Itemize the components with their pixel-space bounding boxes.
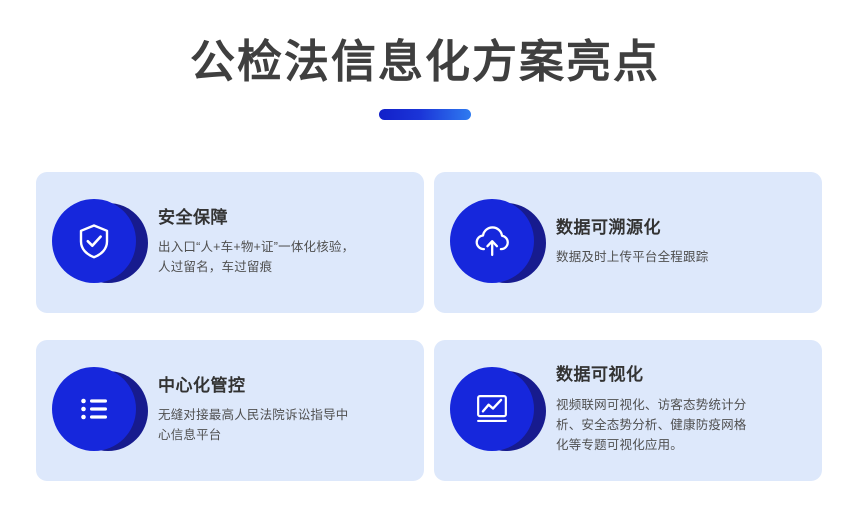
- feature-card-traceability[interactable]: 数据可溯源化 数据及时上传平台全程跟踪: [434, 172, 822, 313]
- card-text-block: 数据可溯源化 数据及时上传平台全程跟踪: [556, 218, 822, 268]
- page-header: 公检法信息化方案亮点: [0, 0, 850, 120]
- list-icon: [74, 389, 114, 429]
- page-root: 公检法信息化方案亮点 安全保障 出入口“人+车+物+证”一体化核验，人: [0, 0, 850, 516]
- card-text-block: 中心化管控 无缝对接最高人民法院诉讼指导中心信息平台: [158, 376, 424, 446]
- card-title: 安全保障: [158, 208, 410, 228]
- icon-badge: [450, 363, 546, 459]
- icon-badge: [52, 363, 148, 459]
- card-description: 无缝对接最高人民法院诉讼指导中心信息平台: [158, 405, 358, 446]
- card-description: 视频联网可视化、访客态势统计分析、安全态势分析、健康防疫网格化等专题可视化应用。: [556, 395, 756, 456]
- cloud-upload-icon: [471, 220, 513, 262]
- card-title: 中心化管控: [158, 376, 410, 396]
- chart-monitor-icon: [471, 388, 513, 430]
- card-title: 数据可溯源化: [556, 218, 808, 238]
- icon-circle: [52, 367, 136, 451]
- icon-badge: [450, 195, 546, 291]
- card-description: 数据及时上传平台全程跟踪: [556, 247, 796, 267]
- icon-circle: [450, 367, 534, 451]
- icon-circle: [52, 199, 136, 283]
- icon-badge: [52, 195, 148, 291]
- card-description: 出入口“人+车+物+证”一体化核验，人过留名，车过留痕: [158, 237, 358, 278]
- page-title: 公检法信息化方案亮点: [0, 36, 850, 88]
- card-title: 数据可视化: [556, 365, 808, 385]
- feature-card-central-control[interactable]: 中心化管控 无缝对接最高人民法院诉讼指导中心信息平台: [36, 340, 424, 481]
- card-text-block: 数据可视化 视频联网可视化、访客态势统计分析、安全态势分析、健康防疫网格化等专题…: [556, 365, 822, 455]
- feature-card-security[interactable]: 安全保障 出入口“人+车+物+证”一体化核验，人过留名，车过留痕: [36, 172, 424, 313]
- feature-card-visualization[interactable]: 数据可视化 视频联网可视化、访客态势统计分析、安全态势分析、健康防疫网格化等专题…: [434, 340, 822, 481]
- title-underline-bar: [379, 109, 471, 120]
- icon-circle: [450, 199, 534, 283]
- feature-cards-grid: 安全保障 出入口“人+车+物+证”一体化核验，人过留名，车过留痕: [36, 172, 822, 481]
- card-text-block: 安全保障 出入口“人+车+物+证”一体化核验，人过留名，车过留痕: [158, 208, 424, 278]
- shield-check-icon: [74, 221, 114, 261]
